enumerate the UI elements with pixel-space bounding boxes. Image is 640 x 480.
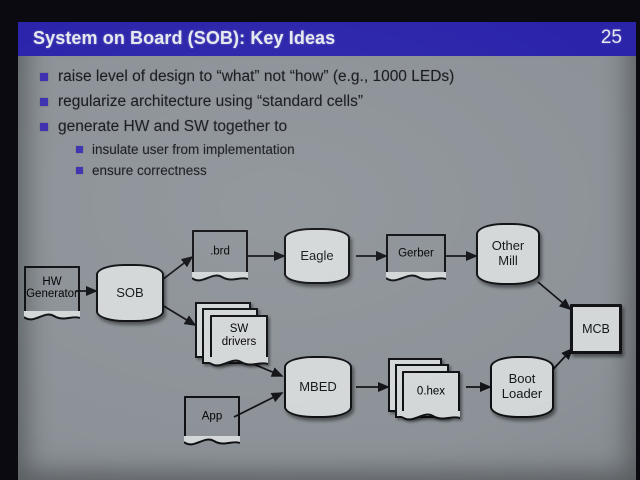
edge-sob-swdrivers (162, 305, 195, 325)
node-mbed: MBED (284, 356, 352, 418)
node-hex: 0.hex (388, 358, 466, 430)
sw-drivers-sheet-front: SW drivers (210, 315, 268, 359)
node-other-mill: Other Mill (476, 223, 540, 285)
node-sw-drivers: SW drivers (195, 302, 271, 374)
projected-slide-photo: System on Board (SOB): Key Ideas 25 rais… (0, 0, 640, 480)
node-app-label: App (186, 411, 238, 424)
node-app: App (184, 396, 240, 438)
node-eagle: Eagle (284, 228, 350, 284)
node-brd-label: .brd (194, 246, 246, 259)
hex-sheet-front: 0.hex (402, 371, 460, 413)
node-gerber-label: Gerber (388, 248, 444, 261)
node-mcb: MCB (570, 304, 622, 354)
node-hex-label: 0.hex (404, 386, 458, 399)
node-brd: .brd (192, 230, 248, 274)
edge-app-mbed (234, 393, 282, 417)
node-hw-generator-label: HW Generator (26, 276, 78, 302)
slide-canvas: System on Board (SOB): Key Ideas 25 rais… (18, 22, 636, 480)
node-sob: SOB (96, 264, 164, 322)
node-boot-loader: Boot Loader (490, 356, 554, 418)
node-gerber: Gerber (386, 234, 446, 274)
flow-diagram: HW Generator SOB .brd Eagle Gerb (18, 22, 636, 480)
edge-othermill-mcb (538, 282, 570, 309)
node-hw-generator: HW Generator (24, 266, 80, 313)
node-sw-drivers-label: SW drivers (212, 323, 266, 349)
edge-sob-brd (162, 257, 192, 280)
